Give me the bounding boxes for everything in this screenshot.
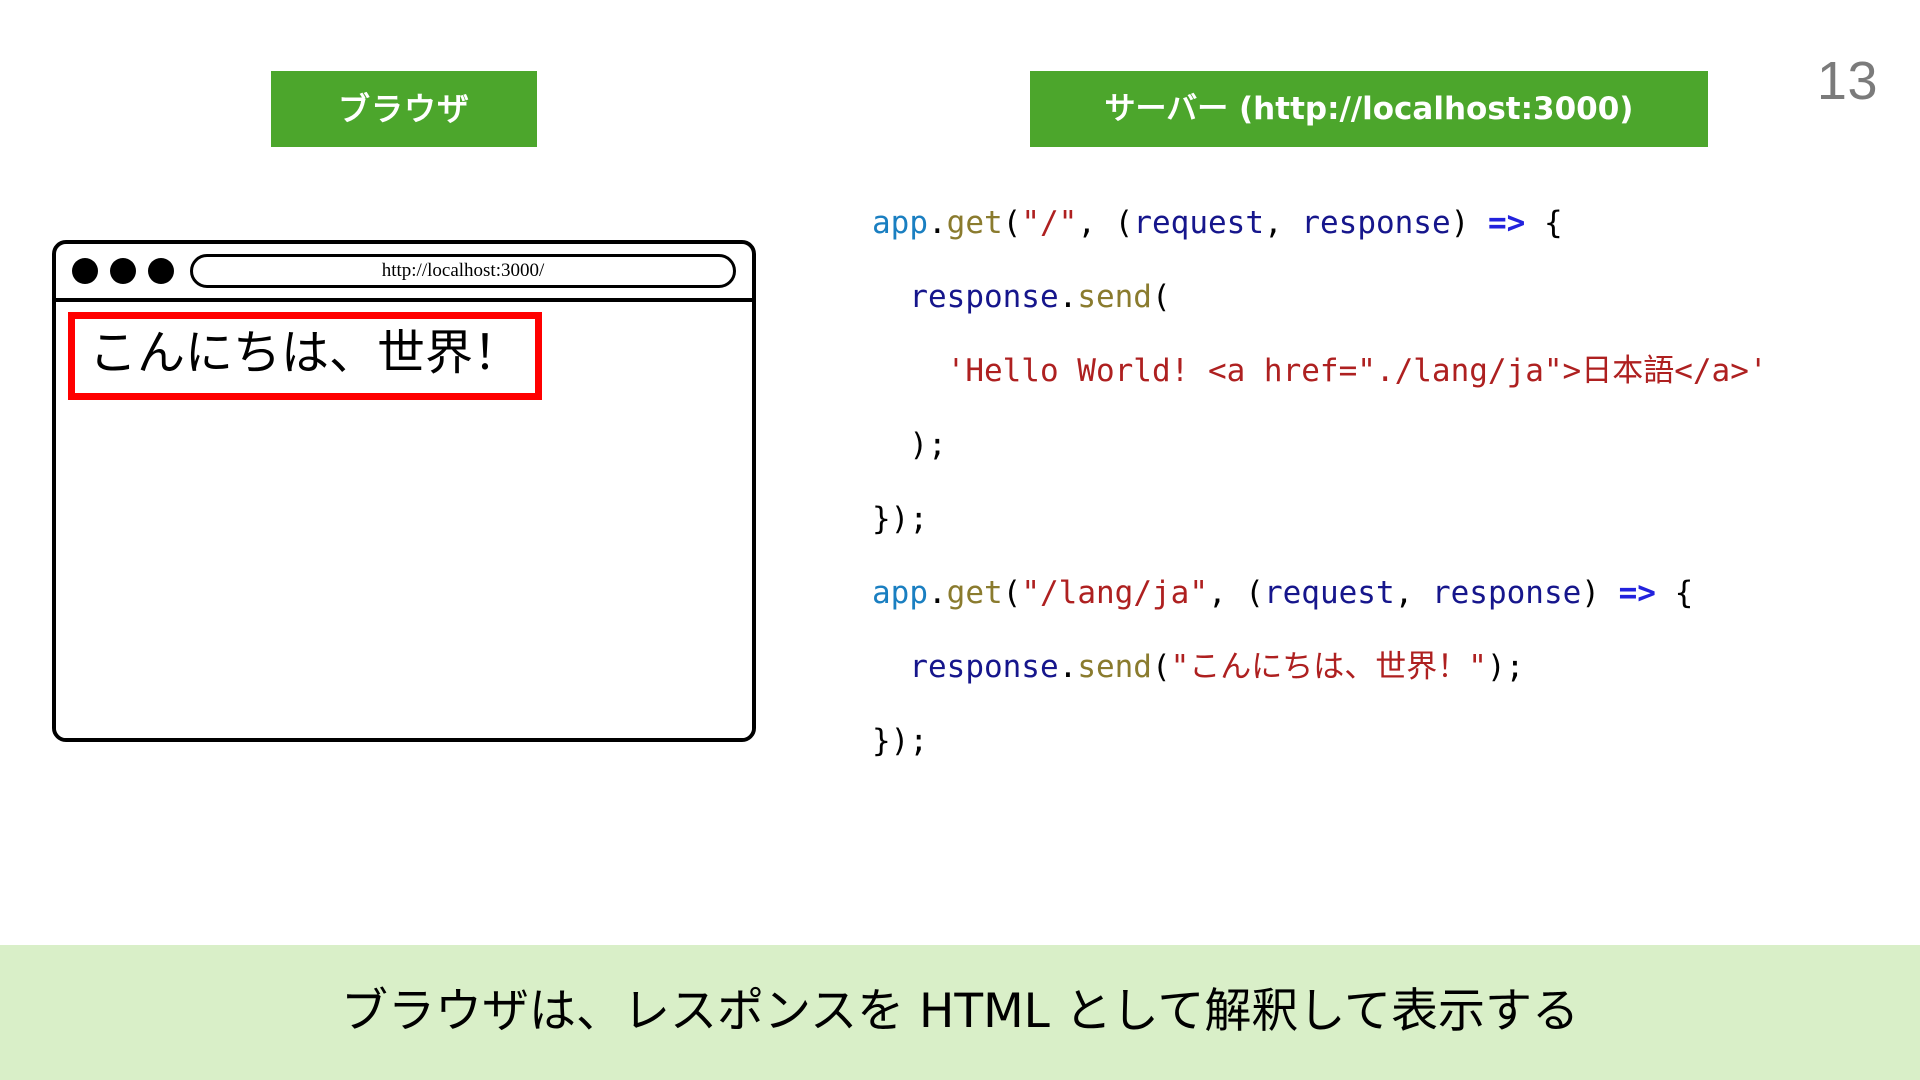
code-token: , ( xyxy=(1077,205,1133,241)
code-token: ) xyxy=(1581,575,1618,611)
highlight-box: こんにちは、世界！ xyxy=(68,312,542,400)
browser-mockup: http://localhost:3000/ こんにちは、世界！ xyxy=(52,240,756,742)
code-indent xyxy=(872,649,909,685)
slide-root: 13 ブラウザ サーバー (http://localhost:3000) htt… xyxy=(0,0,1920,1080)
caption-text: ブラウザは、レスポンスを HTML として解釈して表示する xyxy=(341,984,1579,1040)
code-line: response.send("こんにちは、世界！"); xyxy=(872,630,1768,704)
code-token: ( xyxy=(1152,279,1171,315)
caption-bar: ブラウザは、レスポンスを HTML として解釈して表示する xyxy=(0,945,1920,1080)
code-snippet: app.get("/", (request, response) => { re… xyxy=(872,186,1768,778)
code-token: response xyxy=(1432,575,1581,611)
close-dot-icon[interactable] xyxy=(72,258,98,284)
code-line: 'Hello World! <a href="./lang/ja">日本語</a… xyxy=(872,334,1768,408)
rendered-page-text: こんにちは、世界！ xyxy=(89,325,521,381)
code-line: app.get("/", (request, response) => { xyxy=(872,186,1768,260)
code-token: . xyxy=(928,205,947,241)
code-token: get xyxy=(947,205,1003,241)
code-line: }); xyxy=(872,704,1768,778)
address-bar[interactable]: http://localhost:3000/ xyxy=(190,254,736,288)
minimize-dot-icon[interactable] xyxy=(110,258,136,284)
code-token: response xyxy=(909,649,1058,685)
traffic-light-dots xyxy=(72,258,174,284)
code-token: , ( xyxy=(1208,575,1264,611)
code-token: }); xyxy=(872,723,928,759)
code-token: get xyxy=(947,575,1003,611)
code-token: ); xyxy=(1487,649,1524,685)
section-label-browser: ブラウザ xyxy=(271,71,537,147)
code-token: send xyxy=(1077,279,1152,315)
address-bar-url: http://localhost:3000/ xyxy=(382,260,545,282)
code-indent xyxy=(872,353,947,389)
code-token: send xyxy=(1077,649,1152,685)
code-token: request xyxy=(1264,575,1395,611)
code-token: response xyxy=(1301,205,1450,241)
page-number: 13 xyxy=(1817,54,1878,108)
code-token: ) xyxy=(1451,205,1488,241)
code-token: "/lang/ja" xyxy=(1021,575,1208,611)
code-token: , xyxy=(1395,575,1432,611)
code-token: ( xyxy=(1152,649,1171,685)
code-token: . xyxy=(1059,649,1078,685)
section-label-server: サーバー (http://localhost:3000) xyxy=(1030,71,1708,147)
code-line: ); xyxy=(872,408,1768,482)
code-token: { xyxy=(1656,575,1693,611)
code-token: "こんにちは、世界！" xyxy=(1171,649,1487,685)
code-token: ( xyxy=(1003,205,1022,241)
maximize-dot-icon[interactable] xyxy=(148,258,174,284)
browser-chrome-bar: http://localhost:3000/ xyxy=(56,244,752,302)
code-token: => xyxy=(1488,205,1525,241)
code-line: app.get("/lang/ja", (request, response) … xyxy=(872,556,1768,630)
code-token: request xyxy=(1133,205,1264,241)
code-token: app xyxy=(872,575,928,611)
code-indent xyxy=(872,427,909,463)
code-token: "/" xyxy=(1021,205,1077,241)
code-token: ( xyxy=(1003,575,1022,611)
code-token: . xyxy=(1059,279,1078,315)
code-line: }); xyxy=(872,482,1768,556)
code-indent xyxy=(872,279,909,315)
code-token: => xyxy=(1619,575,1656,611)
code-token: { xyxy=(1525,205,1562,241)
code-token: }); xyxy=(872,501,928,537)
code-token: . xyxy=(928,575,947,611)
code-token: response xyxy=(909,279,1058,315)
code-token: 'Hello World! <a href="./lang/ja">日本語</a… xyxy=(947,353,1768,389)
code-token: , xyxy=(1264,205,1301,241)
code-token: ); xyxy=(909,427,946,463)
code-token: app xyxy=(872,205,928,241)
browser-viewport: こんにちは、世界！ xyxy=(56,302,752,738)
code-line: response.send( xyxy=(872,260,1768,334)
